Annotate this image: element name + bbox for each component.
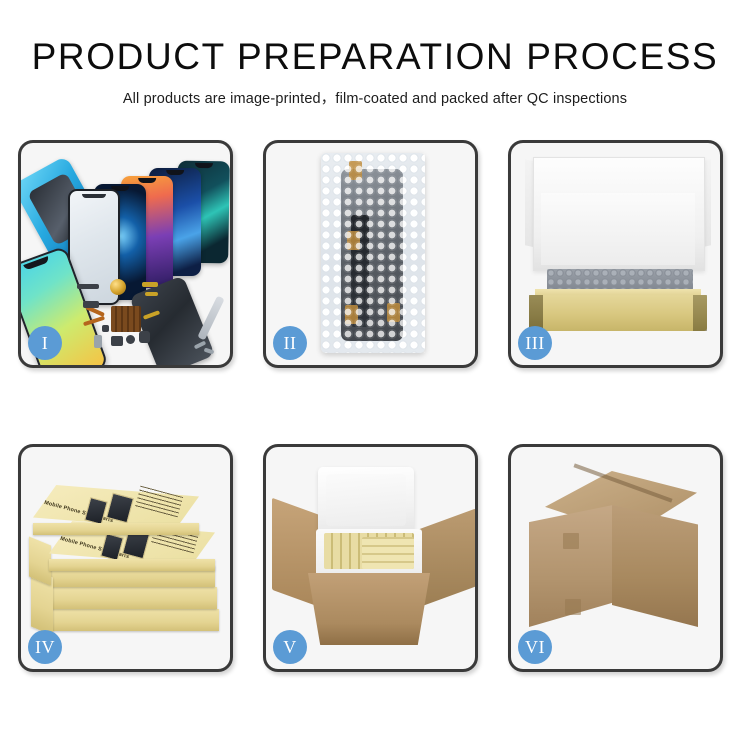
panel-badge-6: VI — [518, 630, 552, 664]
camera-module-part — [111, 336, 123, 346]
page-subtitle: All products are image-printed，film-coat… — [0, 87, 750, 108]
panel-badge-2: II — [273, 326, 307, 360]
stacked-box-layer — [47, 609, 219, 631]
connector-tab-graphic — [349, 161, 362, 180]
carton-tape-patch-bottom — [565, 599, 581, 615]
connector-tab-graphic — [347, 231, 360, 250]
kraft-box-front-graphic — [529, 295, 707, 331]
carton-right-face-graphic — [612, 505, 698, 627]
process-panel-1[interactable]: I — [18, 140, 233, 368]
foam-cooler-lid-inner-graphic — [326, 474, 406, 526]
box-foam-sheet-graphic — [541, 193, 695, 265]
battery-connector-part — [139, 331, 150, 343]
process-panel-grid: I II III — [18, 140, 732, 672]
screwdriver-tool-graphic — [197, 296, 224, 341]
process-panel-4[interactable]: Mobile Phone Spare Parts Mobile Phone Sp… — [18, 444, 233, 672]
connector-tab-graphic — [387, 303, 400, 322]
ic-chip-part — [102, 325, 109, 332]
panel-badge-5: V — [273, 630, 307, 664]
process-panel-3[interactable]: III — [508, 140, 723, 368]
carton-front-graphic — [308, 573, 430, 645]
bubble-wrap-bag-graphic — [321, 153, 425, 353]
printed-box-front-2 — [49, 559, 215, 571]
page-header: PRODUCT PREPARATION PROCESS All products… — [0, 0, 750, 108]
process-panel-2[interactable]: II — [263, 140, 478, 368]
stacked-box-layer — [45, 587, 217, 609]
gold-connector-part — [142, 282, 158, 287]
panel-badge-3: III — [518, 326, 552, 360]
connector-part — [83, 301, 99, 308]
foam-cooler-lid-graphic — [318, 467, 414, 537]
page-title: PRODUCT PREPARATION PROCESS — [0, 38, 750, 77]
process-panel-5[interactable]: V — [263, 444, 478, 672]
carton-tape-patch-top — [563, 533, 579, 549]
chip-grid-graphic — [111, 306, 141, 332]
panel-badge-4: IV — [28, 630, 62, 664]
sim-tray-part — [94, 335, 102, 348]
box-stack-graphic: Mobile Phone Spare Parts Mobile Phone Sp… — [25, 469, 230, 659]
process-panel-6[interactable]: VI — [508, 444, 723, 672]
panel-badge-1: I — [28, 326, 62, 360]
connector-tab-graphic — [345, 305, 358, 324]
stacked-box-side — [29, 537, 51, 586]
printed-box-front-1 — [33, 523, 199, 535]
yellow-boxes-in-foam-graphic-2 — [362, 537, 414, 569]
flex-cable-part — [77, 284, 99, 289]
gold-connector-part — [145, 292, 158, 296]
speaker-part-graphic — [110, 279, 126, 295]
button-part — [126, 335, 135, 344]
